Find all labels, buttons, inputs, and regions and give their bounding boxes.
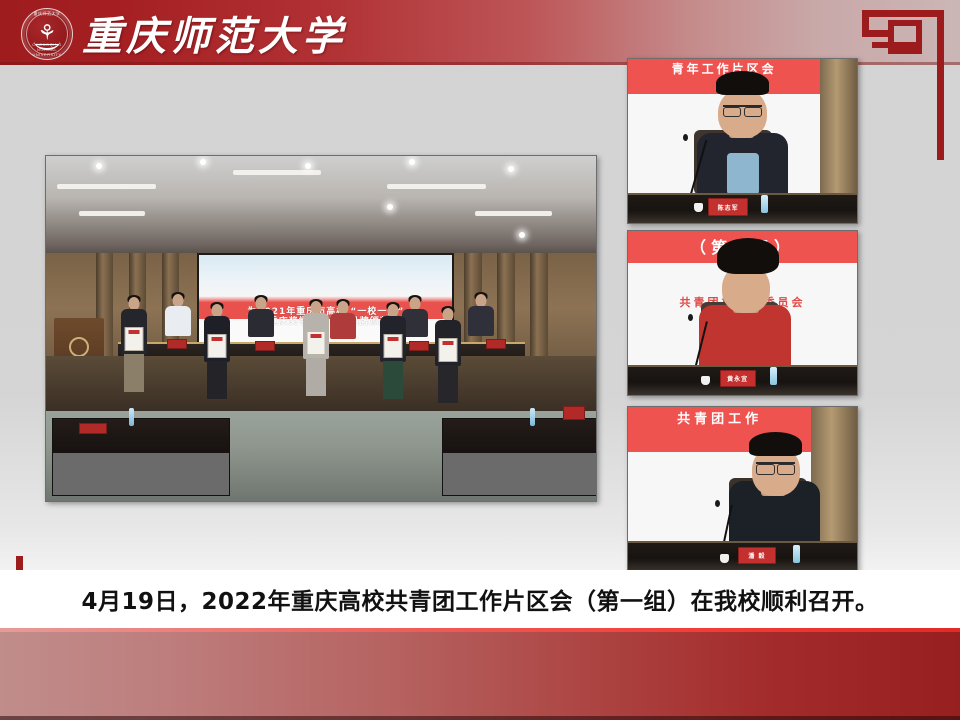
- caption-text: 4月19日，2022年重庆高校共青团工作片区会（第一组）在我校顺利召开。: [81, 582, 878, 616]
- hall-ceiling: [46, 156, 596, 260]
- seal-rim-top-text: 重庆师范大学: [22, 11, 72, 17]
- header-banner: 重庆师范大学 ⚘ CHONGQING NORMAL UNIVERSITY 重庆师…: [0, 0, 960, 65]
- speaker-nameplate: 黄永宜: [720, 370, 756, 387]
- water-bottle: [530, 408, 535, 426]
- speaker-scene: （第一组） 共青团重庆市委员会 黄永宜: [628, 231, 857, 395]
- slide-canvas: 重庆师范大学 ⚘ CHONGQING NORMAL UNIVERSITY 重庆师…: [0, 0, 960, 720]
- glasses-icon: [723, 105, 762, 115]
- speaker-photo-huang[interactable]: （第一组） 共青团重庆市委员会 黄永宜: [627, 230, 858, 396]
- seal-rim-bottom-text: CHONGQING NORMAL UNIVERSITY: [22, 42, 72, 57]
- front-desk-right: [442, 418, 597, 496]
- speaker-photo-pan[interactable]: 共青团工作 潘 毅: [627, 406, 858, 572]
- water-bottle: [129, 408, 134, 426]
- university-name-title: 重庆师范大学: [82, 4, 346, 61]
- desk-nameplate: [563, 406, 585, 420]
- caption-band: 4月19日，2022年重庆高校共青团工作片区会（第一组）在我校顺利召开。: [0, 570, 960, 628]
- speaker-nameplate: 陈志军: [708, 198, 748, 216]
- speaker-scene: 青年工作片区会 陈志军: [628, 59, 857, 223]
- desk-nameplate: [79, 423, 107, 434]
- backdrop-title-text: 共青团工作: [628, 408, 811, 427]
- university-seal-icon: 重庆师范大学 ⚘ CHONGQING NORMAL UNIVERSITY: [21, 8, 73, 60]
- glasses-icon: [756, 462, 795, 472]
- speaker-torso: [699, 305, 791, 371]
- award-ceremony-photo[interactable]: 为2021年重庆市高校 “一校一品” “重庆奖学金” 团学品牌颁奖: [45, 155, 597, 502]
- seal-emblem-icon: ⚘: [38, 22, 57, 43]
- speaker-photo-chen[interactable]: 青年工作片区会 陈志军: [627, 58, 858, 224]
- footer-band: [0, 628, 960, 720]
- speaker-scene: 共青团工作 潘 毅: [628, 407, 857, 571]
- conference-hall-scene: 为2021年重庆市高校 “一校一品” “重庆奖学金” 团学品牌颁奖: [46, 156, 596, 501]
- speaker-nameplate: 潘 毅: [738, 547, 776, 564]
- corner-square-tr: [888, 20, 922, 54]
